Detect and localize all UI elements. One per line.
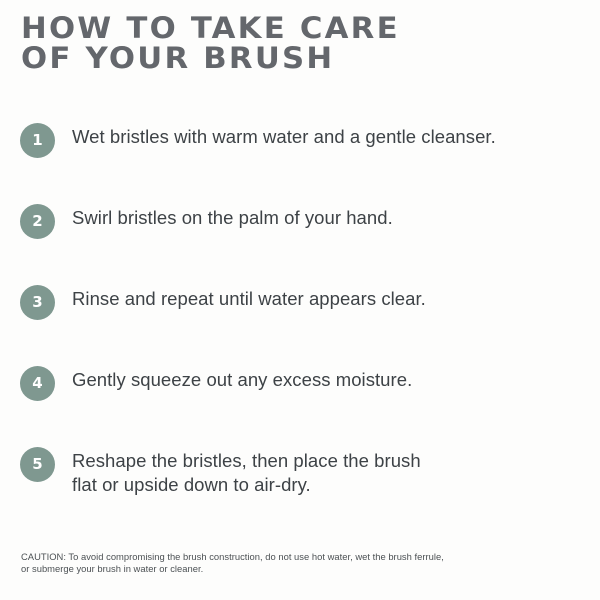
steps-list: 1 Wet bristles with warm water and a gen… <box>20 122 580 528</box>
step-number-badge: 1 <box>20 123 55 158</box>
step-text: Reshape the bristles, then place the bru… <box>72 446 421 497</box>
list-item: 2 Swirl bristles on the palm of your han… <box>20 203 580 284</box>
step-number-badge: 2 <box>20 204 55 239</box>
list-item: 1 Wet bristles with warm water and a gen… <box>20 122 580 203</box>
page-title-line-1: HOW TO TAKE CARE <box>21 13 400 43</box>
step-number-badge: 5 <box>20 447 55 482</box>
step-text: Rinse and repeat until water appears cle… <box>72 284 426 311</box>
step-number-badge: 3 <box>20 285 55 320</box>
step-text: Wet bristles with warm water and a gentl… <box>72 122 496 149</box>
caution-note: CAUTION: To avoid compromising the brush… <box>21 551 566 575</box>
list-item: 4 Gently squeeze out any excess moisture… <box>20 365 580 446</box>
page-title-line-2: OF YOUR BRUSH <box>21 43 400 73</box>
step-text: Gently squeeze out any excess moisture. <box>72 365 412 392</box>
list-item: 5 Reshape the bristles, then place the b… <box>20 446 580 528</box>
page-title: HOW TO TAKE CARE OF YOUR BRUSH <box>21 13 400 73</box>
list-item: 3 Rinse and repeat until water appears c… <box>20 284 580 365</box>
step-text: Swirl bristles on the palm of your hand. <box>72 203 393 230</box>
step-number-badge: 4 <box>20 366 55 401</box>
brush-care-poster: HOW TO TAKE CARE OF YOUR BRUSH 1 Wet bri… <box>0 0 600 600</box>
